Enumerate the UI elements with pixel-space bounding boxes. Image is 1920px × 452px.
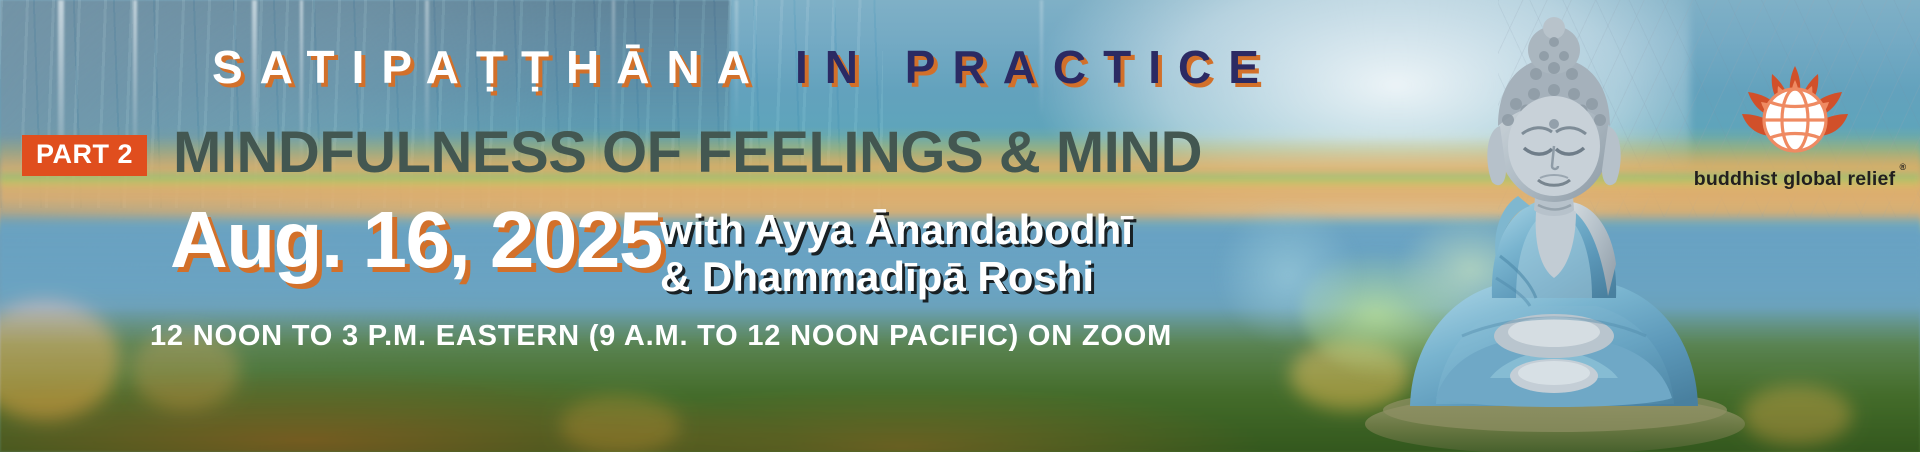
logo-wordmark: buddhist global relief ® — [1694, 168, 1896, 191]
event-date: Aug. 16, 2025 — [170, 200, 662, 280]
page-title: SATIPAṬṬHĀNA IN PRACTICE — [212, 44, 1276, 90]
title-in-practice: IN PRACTICE — [765, 41, 1276, 93]
speaker-line-1: with Ayya Ānandabodhī — [660, 206, 1133, 253]
buddhist-global-relief-logo[interactable]: buddhist global relief ® — [1687, 58, 1902, 191]
speaker-line-2: & Dhammadīpā Roshi — [660, 253, 1133, 300]
title-satipatthana: SATIPAṬṬHĀNA — [212, 41, 765, 93]
logo-wordmark-text: buddhist global relief — [1694, 168, 1896, 190]
status-badge: PART 2 — [22, 135, 147, 176]
lotus-globe-icon — [1734, 58, 1856, 160]
background-paint-blob — [560, 395, 680, 452]
event-time-details: 12 NOON TO 3 P.M. EASTERN (9 A.M. TO 12 … — [150, 320, 1172, 353]
subtitle: MINDFULNESS OF FEELINGS & MIND — [173, 124, 1202, 182]
speakers: with Ayya Ānandabodhī & Dhammadīpā Roshi — [660, 206, 1133, 300]
registered-mark: ® — [1899, 162, 1906, 172]
subtitle-row: PART 2 MINDFULNESS OF FEELINGS & MIND — [22, 124, 1202, 182]
event-banner: buddhist global relief ® SATIPAṬṬHĀNA IN… — [0, 0, 1920, 452]
